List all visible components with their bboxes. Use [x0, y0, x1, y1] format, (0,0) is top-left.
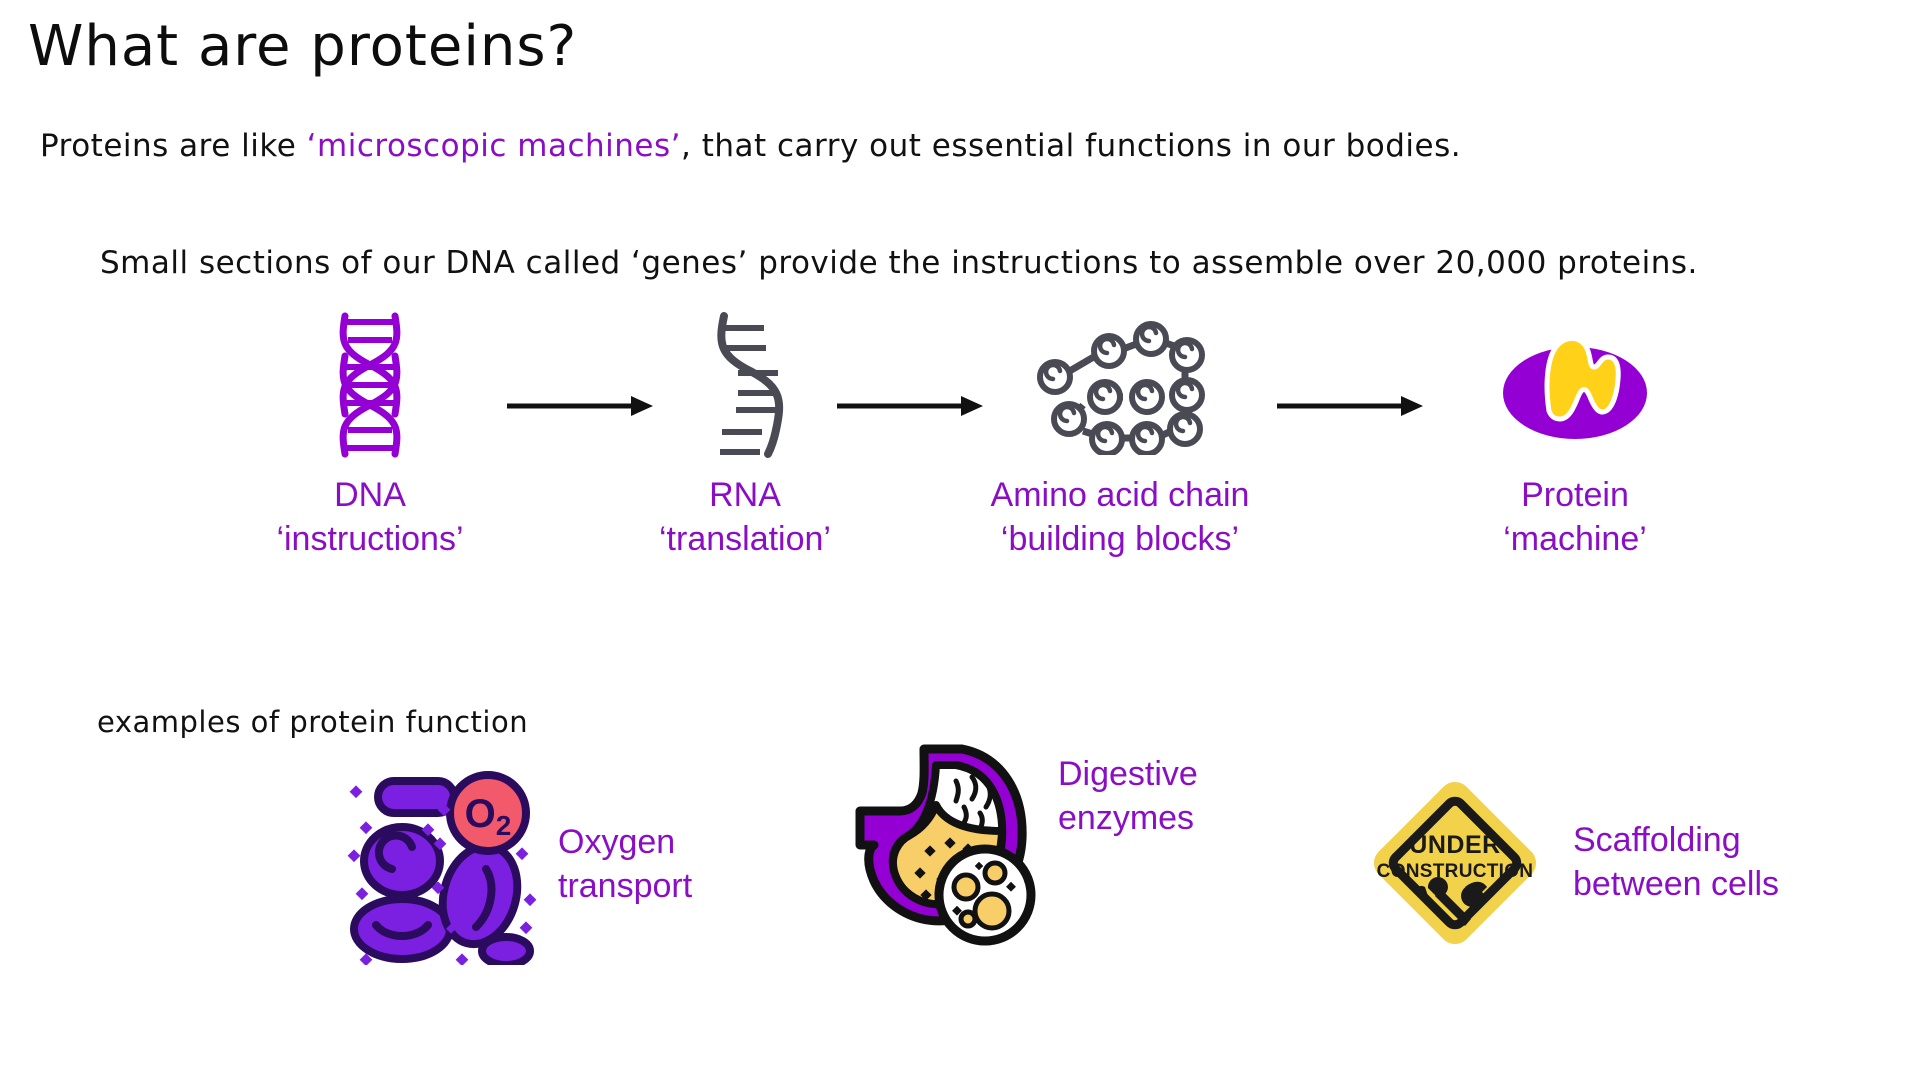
example-oxygen-transport: O2: [340, 765, 692, 965]
example-digestive-enzymes: Digestive enzymes: [852, 735, 1198, 955]
under-construction-sign-icon: UNDER CONSTRUCTION: [1355, 763, 1555, 963]
rna-single-strand-icon: [620, 310, 870, 460]
red-blood-cells-oxygen-icon: O2: [340, 765, 540, 965]
pipeline-stage-nickname: ‘instructions’: [245, 518, 495, 562]
stomach-digestion-icon: [852, 735, 1042, 955]
amino-acid-chain-icon: [910, 310, 1330, 460]
slide-canvas: What are proteins? Proteins are like ‘mi…: [0, 0, 1920, 1080]
pipeline-label-rna: RNA ‘translation’: [620, 474, 870, 561]
example-label-line2: between cells: [1573, 863, 1779, 907]
sign-line2: CONSTRUCTION: [1377, 861, 1534, 882]
pipeline-stage-name: DNA: [245, 474, 495, 518]
example-label-line1: Scaffolding: [1573, 819, 1779, 863]
example-label-digestive-enzymes: Digestive enzymes: [1058, 753, 1198, 840]
sign-line1: UNDER: [1409, 831, 1500, 859]
pipeline-label-amino-acid-chain: Amino acid chain ‘building blocks’: [910, 474, 1330, 561]
pipeline-stage-nickname: ‘building blocks’: [910, 518, 1330, 562]
page-title: What are proteins?: [28, 18, 577, 77]
arrow-right-icon-3: [1275, 394, 1425, 414]
pipeline-stage-nickname: ‘translation’: [620, 518, 870, 562]
example-scaffolding-between-cells: UNDER CONSTRUCTION Scaffolding between c: [1355, 763, 1779, 963]
pipeline-stage-dna: DNA ‘instructions’: [245, 310, 495, 561]
folded-protein-icon: [1450, 310, 1700, 460]
genes-sentence: Small sections of our DNA called ‘genes’…: [100, 245, 1698, 281]
pipeline-stage-name: RNA: [620, 474, 870, 518]
pipeline-label-dna: DNA ‘instructions’: [245, 474, 495, 561]
intro-text-before: Proteins are like: [40, 128, 307, 164]
pipeline-stage-amino-acid-chain: Amino acid chain ‘building blocks’: [910, 310, 1330, 561]
example-label-line2: transport: [558, 865, 692, 909]
intro-text-after: , that carry out essential functions in …: [681, 128, 1461, 164]
pipeline-stage-nickname: ‘machine’: [1450, 518, 1700, 562]
pipeline-stage-name: Amino acid chain: [910, 474, 1330, 518]
intro-sentence: Proteins are like ‘microscopic machines’…: [40, 128, 1461, 164]
intro-accent-phrase: ‘microscopic machines’: [307, 128, 681, 164]
pipeline-stage-rna: RNA ‘translation’: [620, 310, 870, 561]
central-dogma-pipeline: DNA ‘instructions’: [0, 310, 1920, 610]
protein-function-examples: O2: [0, 755, 1920, 1015]
example-label-line1: Oxygen: [558, 821, 692, 865]
examples-heading: examples of protein function: [97, 705, 528, 739]
pipeline-label-protein: Protein ‘machine’: [1450, 474, 1700, 561]
dna-double-helix-icon: [245, 310, 495, 460]
example-label-oxygen-transport: Oxygen transport: [558, 821, 692, 908]
pipeline-stage-name: Protein: [1450, 474, 1700, 518]
example-label-scaffolding: Scaffolding between cells: [1573, 819, 1779, 906]
example-label-line2: enzymes: [1058, 797, 1198, 841]
pipeline-stage-protein: Protein ‘machine’: [1450, 310, 1700, 561]
example-label-line1: Digestive: [1058, 753, 1198, 797]
